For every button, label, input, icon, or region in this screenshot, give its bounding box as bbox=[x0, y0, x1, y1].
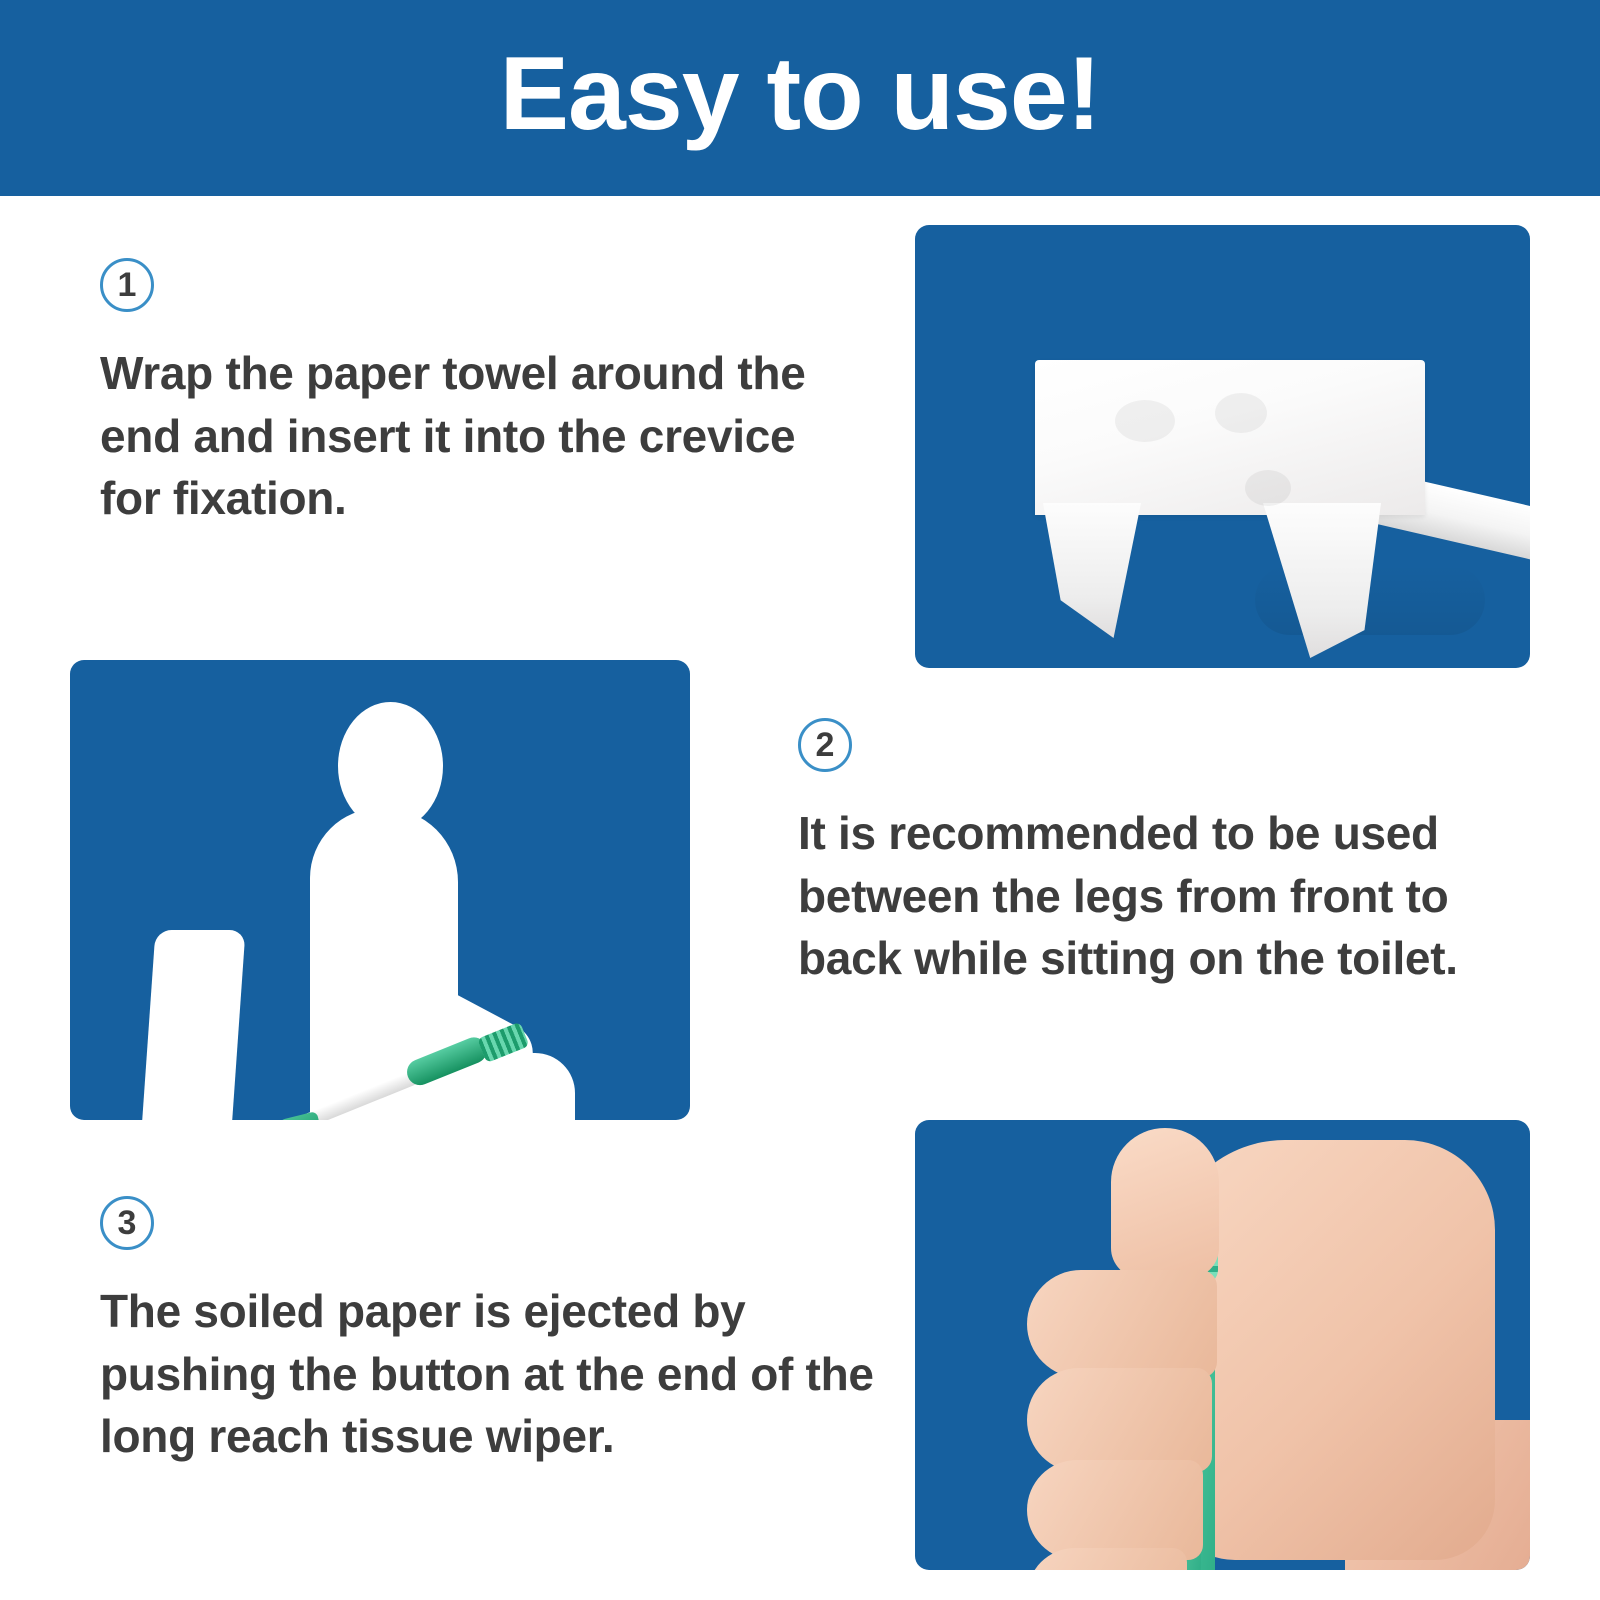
step-1-number-badge: 1 bbox=[100, 258, 154, 312]
paper-towel-photo-panel bbox=[915, 225, 1530, 668]
seated-person-illustration-panel bbox=[70, 660, 690, 1120]
step-3-number-badge: 3 bbox=[100, 1196, 154, 1250]
hand-ring-finger bbox=[1027, 1460, 1203, 1560]
hand-holding-handle-photo-panel bbox=[915, 1120, 1530, 1570]
step-1-block: 1 Wrap the paper towel around the end an… bbox=[100, 258, 860, 530]
towel-crease bbox=[1115, 400, 1175, 442]
infographic-page: Easy to use! 1 Wrap the paper towel arou… bbox=[0, 0, 1600, 1600]
step-2-number-badge: 2 bbox=[798, 718, 852, 772]
towel-crease bbox=[1245, 470, 1291, 506]
header-banner: Easy to use! bbox=[0, 0, 1600, 196]
towel-crease bbox=[1215, 393, 1267, 433]
hand-index-finger bbox=[1027, 1270, 1217, 1378]
step-3-text: The soiled paper is ejected by pushing t… bbox=[100, 1280, 880, 1468]
person-head bbox=[338, 702, 443, 830]
step-2-block: 2 It is recommended to be used between t… bbox=[798, 718, 1518, 990]
toilet-tank-icon bbox=[140, 930, 245, 1120]
step-3-block: 3 The soiled paper is ejected by pushing… bbox=[100, 1196, 880, 1468]
wiper-tip-green bbox=[274, 1111, 322, 1120]
paper-towel-sheet bbox=[1035, 360, 1425, 515]
step-1-text: Wrap the paper towel around the end and … bbox=[100, 342, 860, 530]
page-title: Easy to use! bbox=[500, 42, 1101, 154]
hand-middle-finger bbox=[1027, 1368, 1212, 1472]
hand-thumb bbox=[1111, 1128, 1219, 1278]
step-2-text: It is recommended to be used between the… bbox=[798, 802, 1518, 990]
towel-fold-left bbox=[1043, 503, 1141, 638]
